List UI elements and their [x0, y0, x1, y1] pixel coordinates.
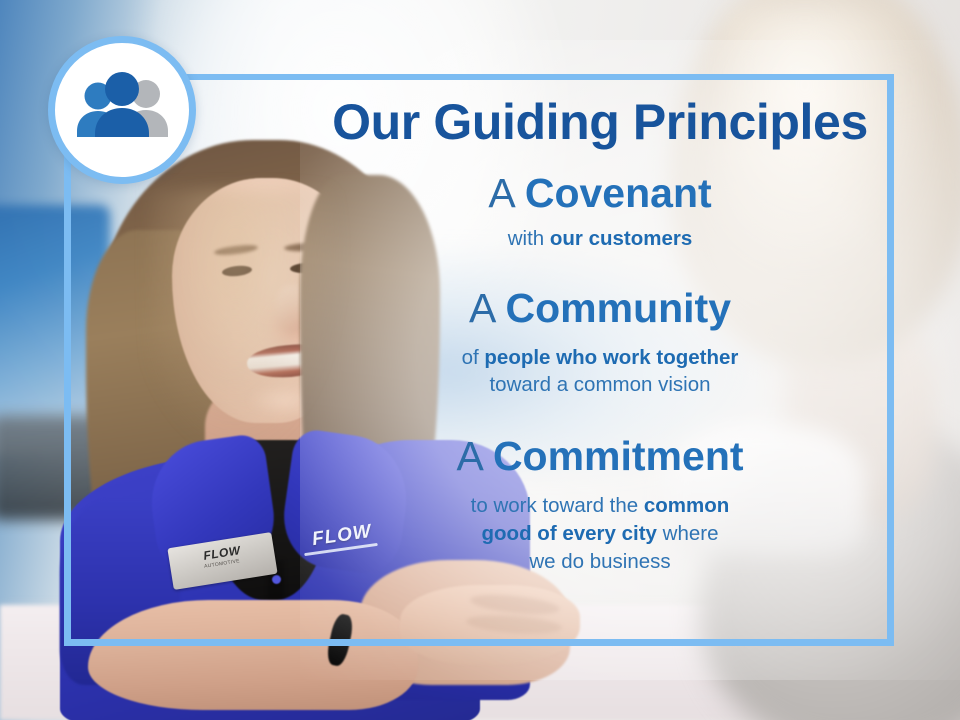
page-title: Our Guiding Principles [300, 96, 900, 149]
principle-keyword: Covenant [525, 170, 712, 216]
subtext-line1-plain: to work toward the [471, 494, 644, 517]
principle-lead: A [488, 170, 513, 216]
principle-lead: A [456, 433, 481, 479]
principle-headline: A Commitment [300, 434, 900, 480]
principle-commitment: A Commitment to work toward the common g… [300, 434, 900, 576]
principle-keyword: Commitment [493, 433, 744, 479]
subtext-line1-plain: of [462, 346, 485, 369]
principle-headline: A Community [300, 286, 900, 332]
subtext-line1-bold: people who work together [484, 346, 738, 369]
subtext-bold: our customers [550, 227, 692, 250]
subtext-line2-plain: where [657, 522, 719, 545]
subtext-line1-bold: common [644, 494, 729, 517]
subtext-line3: we do business [529, 550, 670, 573]
subtext-line2: toward a common vision [489, 373, 710, 396]
people-group-icon [48, 36, 196, 184]
principle-keyword: Community [506, 285, 732, 331]
principle-covenant: A Covenant with our customers [300, 171, 900, 252]
subtext-line2-bold: good of every city [482, 522, 657, 545]
principle-subtext: with our customers [300, 225, 900, 252]
employee-shirt-button [272, 575, 281, 584]
principle-community: A Community of people who work together … [300, 286, 900, 398]
guiding-principles-graphic: FLOW AUTOMOTIVE FLOW Our Guiding Princip… [0, 0, 960, 720]
principles-text-block: Our Guiding Principles A Covenant with o… [300, 78, 900, 648]
subtext-plain: with [508, 227, 550, 250]
principle-headline: A Covenant [300, 171, 900, 217]
principle-subtext: of people who work together toward a com… [300, 344, 900, 398]
principle-lead: A [469, 285, 494, 331]
principle-subtext: to work toward the common good of every … [300, 492, 900, 576]
